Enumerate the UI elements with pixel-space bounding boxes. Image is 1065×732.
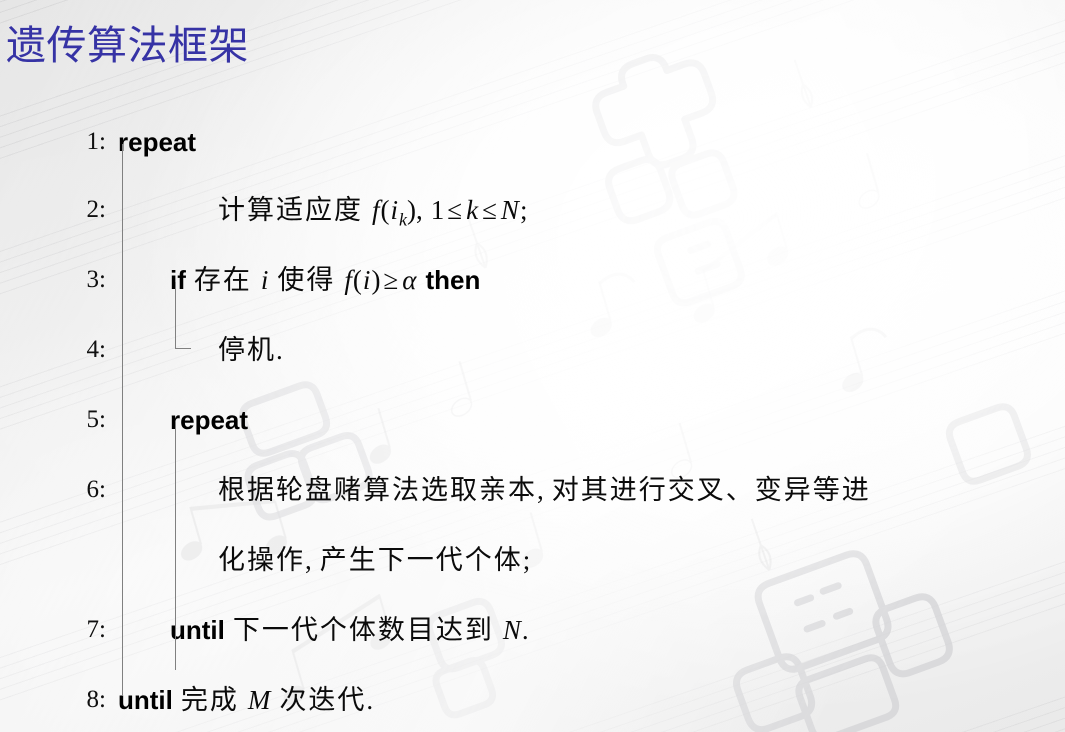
algorithm-text-cjk: 产生下一代个体 — [320, 545, 523, 575]
math-subscript: k — [399, 209, 407, 229]
math-literal: ( — [353, 265, 362, 295]
algorithm-line: 5:repeat — [0, 398, 1065, 442]
algorithm-line: 7:until下一代个体数目达到N. — [0, 608, 1065, 652]
algorithm-line: 3:if存在i使得f(i)≥αthen — [0, 258, 1065, 302]
algorithm-text-cjk: 计算适应度 — [218, 195, 363, 225]
algorithm-text-cjk: 次迭代 — [279, 685, 366, 715]
algorithm-line-content: until完成M次迭代. — [118, 678, 373, 722]
algorithm-text-cjk: 停机 — [218, 335, 276, 365]
if-then-block-rule — [175, 282, 176, 348]
algorithm-line-number: 8: — [60, 678, 106, 722]
math-literal: . — [522, 615, 529, 645]
algorithm-line-content: repeat — [170, 398, 248, 442]
algorithm-keyword: if — [170, 265, 186, 295]
math-symbol: α — [401, 265, 417, 295]
math-literal: ; — [520, 195, 528, 225]
algorithm-text-cjk: 对其进行交叉、变异等进 — [552, 475, 871, 505]
algorithm-line-number: 7: — [60, 608, 106, 652]
algorithm-line-number: 3: — [60, 258, 106, 302]
algorithm-line: 1:repeat — [0, 120, 1065, 164]
math-operator: ≤ — [479, 195, 500, 225]
algorithm-line: 2:计算适应度f(ik),1≤k≤N; — [0, 188, 1065, 232]
if-then-block-foot — [175, 348, 191, 349]
algorithm-line-content: 化操作,产生下一代个体; — [218, 538, 530, 582]
algorithm-line-number: 1: — [60, 120, 106, 164]
math-symbol: f — [371, 195, 381, 225]
algorithm-line-number: 5: — [60, 398, 106, 442]
algorithm-line-content: until下一代个体数目达到N. — [170, 608, 529, 652]
algorithm-line-number: 6: — [60, 468, 106, 512]
algorithm-text-cjk: 化操作 — [218, 545, 305, 575]
page-title: 遗传算法框架 — [6, 24, 249, 70]
slide-canvas: 遗传算法框架 1:repeat2:计算适应度f(ik),1≤k≤N;3:if存在… — [0, 0, 1065, 732]
math-symbol: N — [500, 195, 520, 225]
algorithm-line-number: 2: — [60, 188, 106, 232]
algorithm-line-number: 4: — [60, 328, 106, 372]
math-symbol: f — [343, 265, 353, 295]
algorithm-line-content: 根据轮盘赌算法选取亲本,对其进行交叉、变异等进 — [218, 468, 871, 512]
math-symbol: M — [247, 685, 272, 715]
algorithm-text-cjk: 存在 — [194, 265, 252, 295]
math-operator: ≤ — [444, 195, 465, 225]
math-literal: ; — [523, 545, 531, 575]
algorithm-line-content: 计算适应度f(ik),1≤k≤N; — [218, 188, 527, 241]
algorithm-line: 6:根据轮盘赌算法选取亲本,对其进行交叉、变异等进 — [0, 468, 1065, 512]
math-symbol: k — [465, 195, 479, 225]
math-symbol: i — [260, 265, 270, 295]
inner-repeat-until-block-rule — [175, 422, 176, 670]
algorithm-text-cjk: 使得 — [277, 265, 335, 295]
algorithm-text-cjk: 下一代个体数目达到 — [233, 615, 494, 645]
math-symbol: N — [502, 615, 522, 645]
math-literal: , — [537, 475, 544, 505]
algorithm-keyword: then — [425, 265, 480, 295]
math-symbol: i — [362, 265, 372, 295]
math-literal: 1 — [431, 195, 445, 225]
algorithm-block: 1:repeat2:计算适应度f(ik),1≤k≤N;3:if存在i使得f(i)… — [0, 110, 1065, 725]
math-literal: . — [366, 685, 373, 715]
math-literal: . — [276, 335, 283, 365]
algorithm-keyword: until — [118, 685, 173, 715]
math-literal: ), — [407, 195, 423, 225]
math-operator: ≥ — [380, 265, 401, 295]
algorithm-text-cjk: 完成 — [181, 685, 239, 715]
algorithm-line-content: 停机. — [218, 328, 283, 372]
algorithm-keyword: until — [170, 615, 225, 645]
math-literal: ( — [381, 195, 390, 225]
algorithm-line-content: if存在i使得f(i)≥αthen — [170, 258, 480, 302]
algorithm-keyword: repeat — [118, 127, 196, 157]
math-literal: , — [305, 545, 312, 575]
math-symbol: i — [390, 195, 400, 225]
algorithm-text-cjk: 根据轮盘赌算法选取亲本 — [218, 475, 537, 505]
algorithm-line-content: repeat — [118, 120, 196, 164]
algorithm-keyword: repeat — [170, 405, 248, 435]
algorithm-line: 8:until完成M次迭代. — [0, 678, 1065, 722]
outer-repeat-until-block-rule — [122, 144, 123, 696]
algorithm-line: 4:停机. — [0, 328, 1065, 372]
algorithm-line: 化操作,产生下一代个体; — [0, 538, 1065, 582]
